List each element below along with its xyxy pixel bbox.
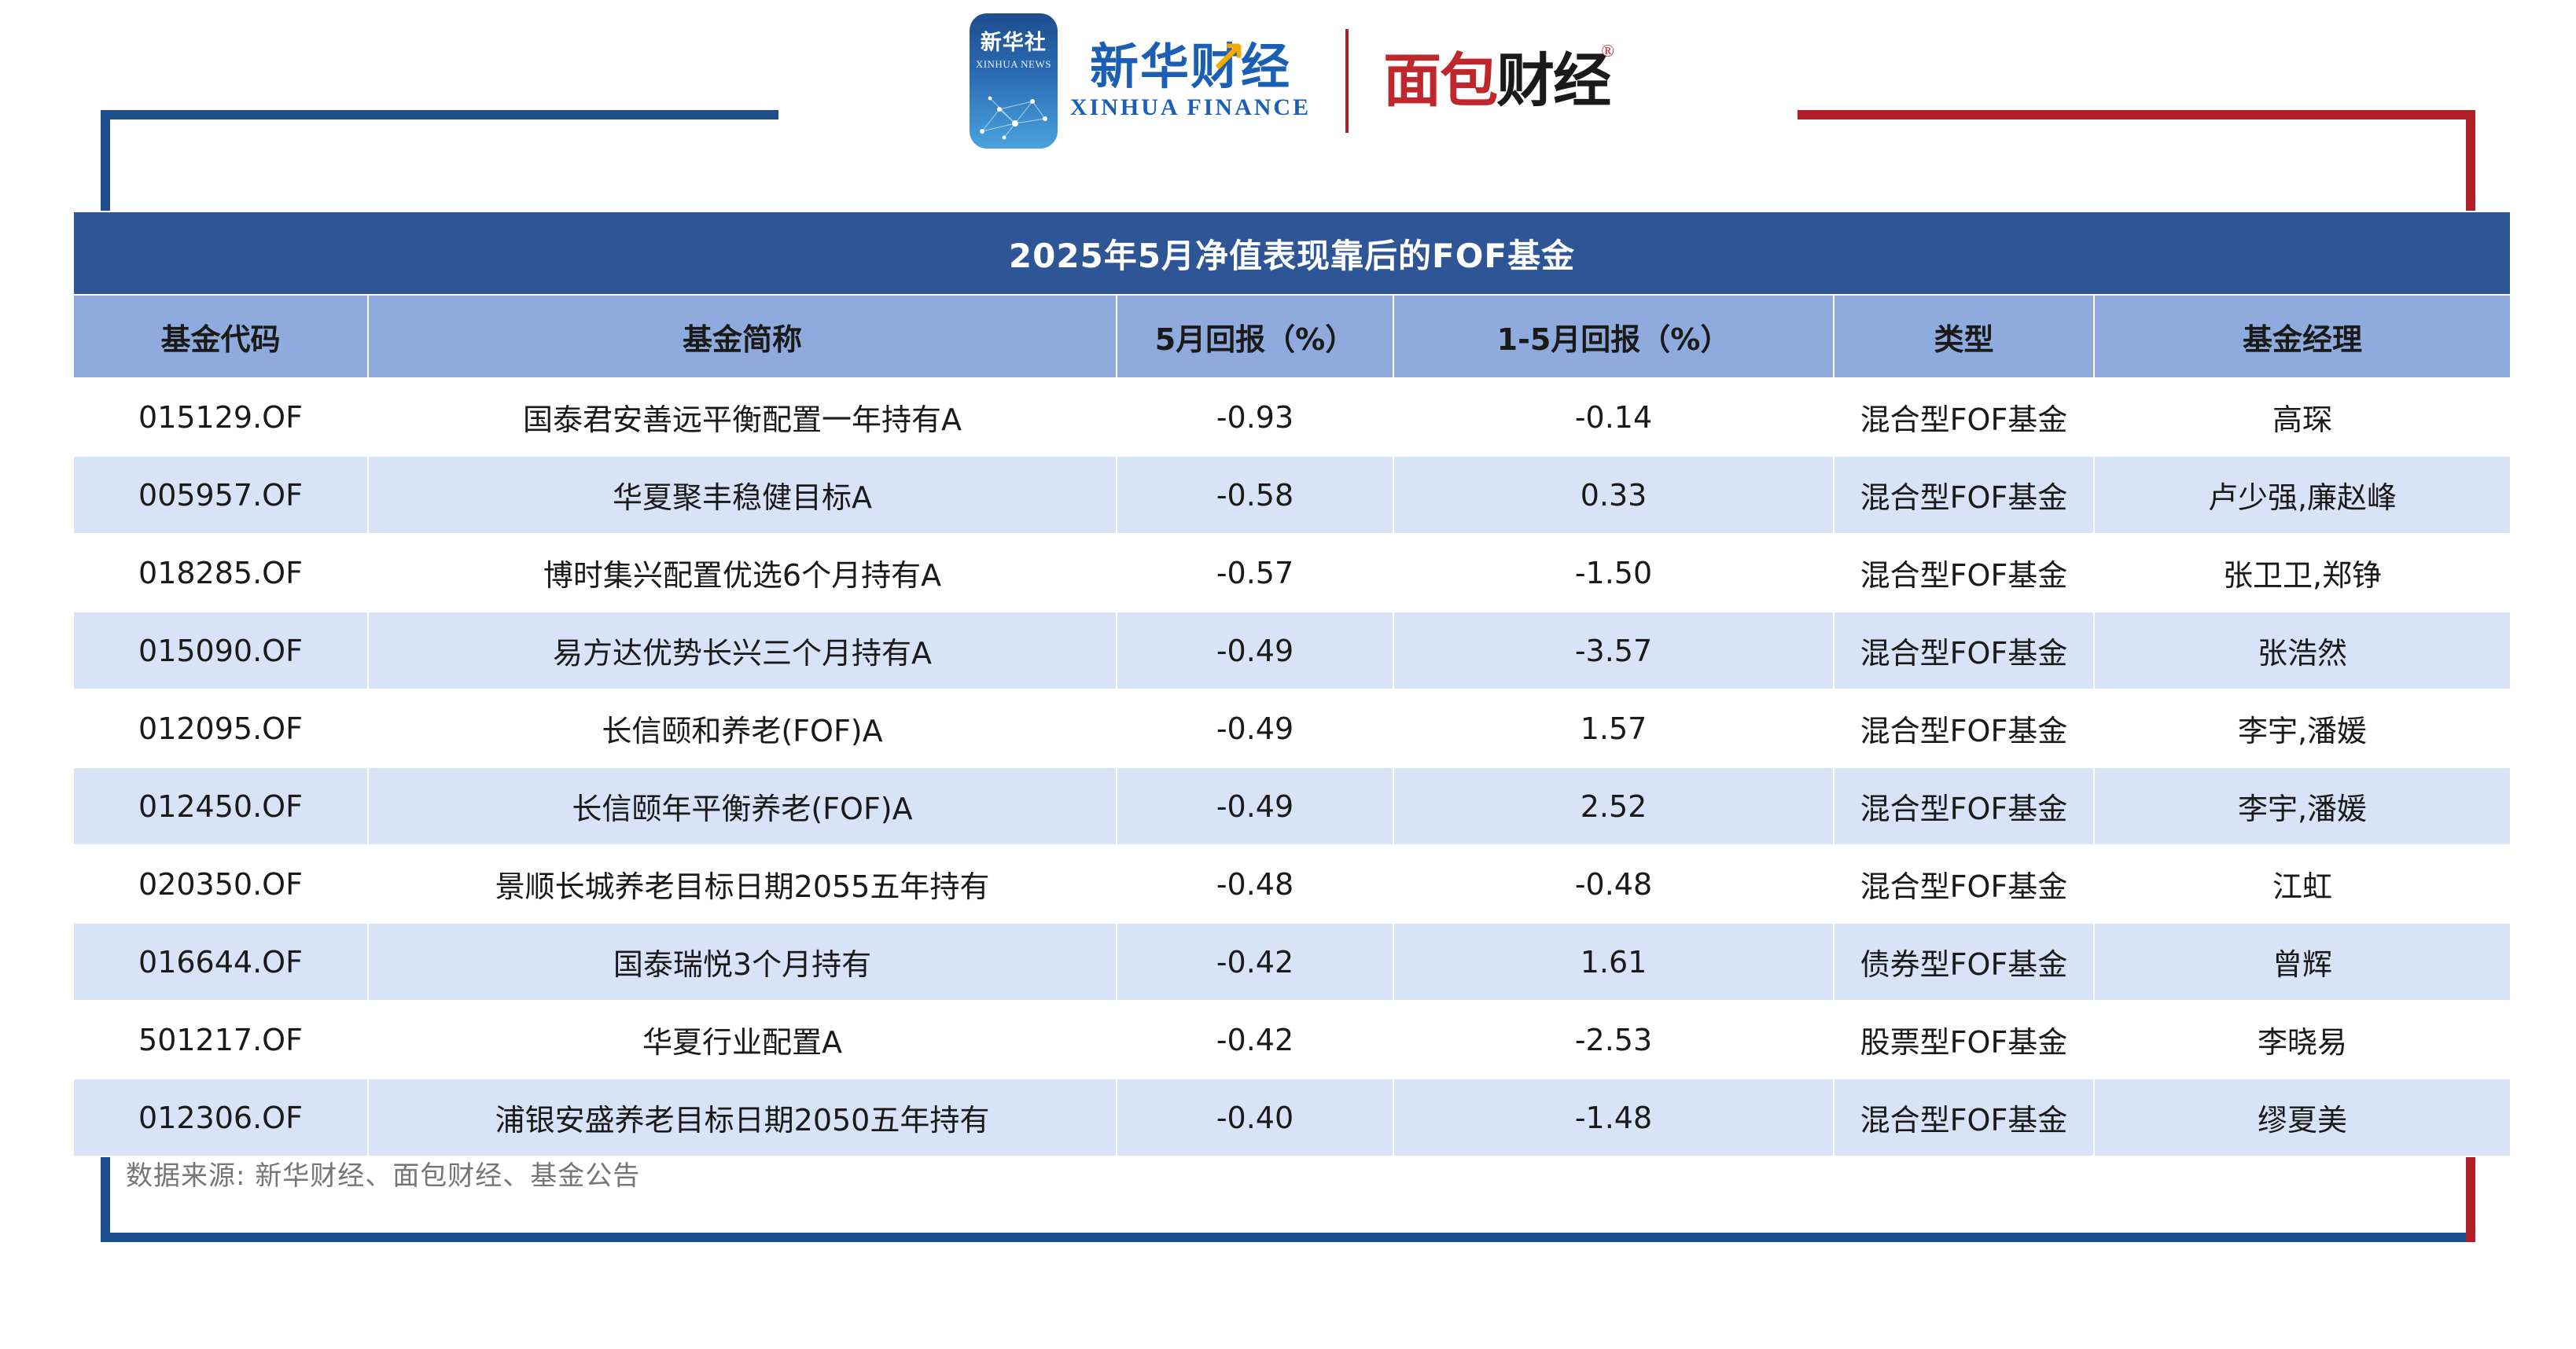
mianbao-black-label: 财经 — [1496, 52, 1610, 110]
frame-top-right-line — [1798, 110, 2475, 119]
cell-r0-c1: 国泰君安善远平衡配置一年持有A — [368, 378, 1117, 456]
mianbao-finance-logo: 面包 财经 ® — [1383, 52, 1610, 110]
cell-r6-c3: -0.48 — [1393, 845, 1834, 923]
xinhua-news-cn-label: 新华社 — [981, 32, 1047, 53]
table-row: 012306.OF浦银安盛养老目标日期2050五年持有-0.40-1.48混合型… — [73, 1079, 2511, 1156]
cell-r4-c0: 012095.OF — [73, 689, 368, 767]
cell-r4-c5: 李宇,潘媛 — [2094, 689, 2511, 767]
cell-r9-c0: 012306.OF — [73, 1079, 368, 1156]
cell-r2-c0: 018285.OF — [73, 534, 368, 612]
table-title: 2025年5月净值表现靠后的FOF基金 — [73, 211, 2511, 295]
cell-r9-c4: 混合型FOF基金 — [1834, 1079, 2094, 1156]
cell-r6-c1: 景顺长城养老目标日期2055五年持有 — [368, 845, 1117, 923]
cell-r0-c4: 混合型FOF基金 — [1834, 378, 2094, 456]
table-row: 015129.OF国泰君安善远平衡配置一年持有A-0.93-0.14混合型FOF… — [73, 378, 2511, 456]
table-row: 020350.OF景顺长城养老目标日期2055五年持有-0.48-0.48混合型… — [73, 845, 2511, 923]
cell-r0-c0: 015129.OF — [73, 378, 368, 456]
table-title-row: 2025年5月净值表现靠后的FOF基金 — [73, 211, 2511, 295]
cell-r7-c0: 016644.OF — [73, 923, 368, 1001]
cell-r8-c5: 李晓易 — [2094, 1001, 2511, 1079]
cell-r7-c1: 国泰瑞悦3个月持有 — [368, 923, 1117, 1001]
cell-r8-c1: 华夏行业配置A — [368, 1001, 1117, 1079]
mianbao-red-label: 面包 — [1383, 52, 1496, 110]
cell-r1-c2: -0.58 — [1117, 456, 1393, 534]
cell-r4-c2: -0.49 — [1117, 689, 1393, 767]
cell-r7-c4: 债券型FOF基金 — [1834, 923, 2094, 1001]
cell-r2-c2: -0.57 — [1117, 534, 1393, 612]
column-header-1: 基金简称 — [368, 295, 1117, 378]
cell-r9-c1: 浦银安盛养老目标日期2050五年持有 — [368, 1079, 1117, 1156]
cell-r0-c5: 高琛 — [2094, 378, 2511, 456]
table-header-row: 基金代码基金简称5月回报（%）1-5月回报（%）类型基金经理 — [73, 295, 2511, 378]
registered-trademark-icon: ® — [1601, 41, 1614, 61]
cell-r1-c4: 混合型FOF基金 — [1834, 456, 2094, 534]
cell-r8-c4: 股票型FOF基金 — [1834, 1001, 2094, 1079]
cell-r2-c1: 博时集兴配置优选6个月持有A — [368, 534, 1117, 612]
network-graphic-icon — [970, 83, 1058, 144]
cell-r8-c2: -0.42 — [1117, 1001, 1393, 1079]
up-arrow-icon: ↗ — [1209, 36, 1248, 80]
cell-r5-c2: -0.49 — [1117, 767, 1393, 845]
cell-r7-c2: -0.42 — [1117, 923, 1393, 1001]
cell-r3-c1: 易方达优势长兴三个月持有A — [368, 612, 1117, 689]
cell-r9-c3: -1.48 — [1393, 1079, 1834, 1156]
cell-r1-c3: 0.33 — [1393, 456, 1834, 534]
table-body: 015129.OF国泰君安善远平衡配置一年持有A-0.93-0.14混合型FOF… — [73, 378, 2511, 1156]
cell-r2-c4: 混合型FOF基金 — [1834, 534, 2094, 612]
cell-r1-c5: 卢少强,廉赵峰 — [2094, 456, 2511, 534]
cell-r6-c4: 混合型FOF基金 — [1834, 845, 2094, 923]
cell-r5-c3: 2.52 — [1393, 767, 1834, 845]
xinhua-news-en-label: XINHUA NEWS — [976, 58, 1051, 71]
cell-r2-c3: -1.50 — [1393, 534, 1834, 612]
table-row: 501217.OF华夏行业配置A-0.42-2.53股票型FOF基金李晓易 — [73, 1001, 2511, 1079]
xinhua-finance-en-label: XINHUA FINANCE — [1070, 94, 1311, 121]
column-header-3: 1-5月回报（%） — [1393, 295, 1834, 378]
fund-table: 2025年5月净值表现靠后的FOF基金 基金代码基金简称5月回报（%）1-5月回… — [72, 211, 2512, 1157]
xinhua-finance-cn-text: 新华财经 — [1090, 38, 1291, 95]
table-row: 005957.OF华夏聚丰稳健目标A-0.580.33混合型FOF基金卢少强,廉… — [73, 456, 2511, 534]
xinhua-finance-logo: 新华财经 ↗ XINHUA FINANCE — [1070, 41, 1311, 120]
table-row: 015090.OF易方达优势长兴三个月持有A-0.49-3.57混合型FOF基金… — [73, 612, 2511, 689]
table-row: 012450.OF长信颐年平衡养老(FOF)A-0.492.52混合型FOF基金… — [73, 767, 2511, 845]
table-row: 016644.OF国泰瑞悦3个月持有-0.421.61债券型FOF基金曾辉 — [73, 923, 2511, 1001]
cell-r1-c1: 华夏聚丰稳健目标A — [368, 456, 1117, 534]
xinhua-news-logo: 新华社 XINHUA NEWS — [970, 13, 1058, 149]
column-header-2: 5月回报（%） — [1117, 295, 1393, 378]
fund-table-container: 2025年5月净值表现靠后的FOF基金 基金代码基金简称5月回报（%）1-5月回… — [72, 211, 2510, 1157]
column-header-0: 基金代码 — [73, 295, 368, 378]
cell-r0-c2: -0.93 — [1117, 378, 1393, 456]
cell-r3-c4: 混合型FOF基金 — [1834, 612, 2094, 689]
cell-r8-c0: 501217.OF — [73, 1001, 368, 1079]
cell-r6-c5: 江虹 — [2094, 845, 2511, 923]
column-header-5: 基金经理 — [2094, 295, 2511, 378]
cell-r5-c1: 长信颐年平衡养老(FOF)A — [368, 767, 1117, 845]
source-note: 数据来源: 新华财经、面包财经、基金公告 — [126, 1154, 640, 1193]
cell-r9-c2: -0.40 — [1117, 1079, 1393, 1156]
cell-r5-c4: 混合型FOF基金 — [1834, 767, 2094, 845]
cell-r6-c0: 020350.OF — [73, 845, 368, 923]
cell-r2-c5: 张卫卫,郑铮 — [2094, 534, 2511, 612]
cell-r7-c5: 曾辉 — [2094, 923, 2511, 1001]
table-row: 012095.OF长信颐和养老(FOF)A-0.491.57混合型FOF基金李宇… — [73, 689, 2511, 767]
logo-strip: 新华社 XINHUA NEWS 新华财经 ↗ XINHUA FINANCE — [778, 6, 1801, 156]
cell-r4-c3: 1.57 — [1393, 689, 1834, 767]
cell-r3-c2: -0.49 — [1117, 612, 1393, 689]
column-header-4: 类型 — [1834, 295, 2094, 378]
frame-bottom-line — [101, 1233, 2475, 1242]
cell-r5-c5: 李宇,潘媛 — [2094, 767, 2511, 845]
cell-r4-c1: 长信颐和养老(FOF)A — [368, 689, 1117, 767]
cell-r0-c3: -0.14 — [1393, 378, 1834, 456]
cell-r6-c2: -0.48 — [1117, 845, 1393, 923]
cell-r3-c5: 张浩然 — [2094, 612, 2511, 689]
frame-top-left-line — [101, 110, 778, 119]
xinhua-finance-cn-label: 新华财经 ↗ — [1090, 41, 1291, 92]
cell-r3-c3: -3.57 — [1393, 612, 1834, 689]
cell-r8-c3: -2.53 — [1393, 1001, 1834, 1079]
cell-r1-c0: 005957.OF — [73, 456, 368, 534]
cell-r7-c3: 1.61 — [1393, 923, 1834, 1001]
cell-r4-c4: 混合型FOF基金 — [1834, 689, 2094, 767]
cell-r5-c0: 012450.OF — [73, 767, 368, 845]
cell-r9-c5: 缪夏美 — [2094, 1079, 2511, 1156]
table-row: 018285.OF博时集兴配置优选6个月持有A-0.57-1.50混合型FOF基… — [73, 534, 2511, 612]
logo-divider — [1345, 29, 1349, 133]
cell-r3-c0: 015090.OF — [73, 612, 368, 689]
